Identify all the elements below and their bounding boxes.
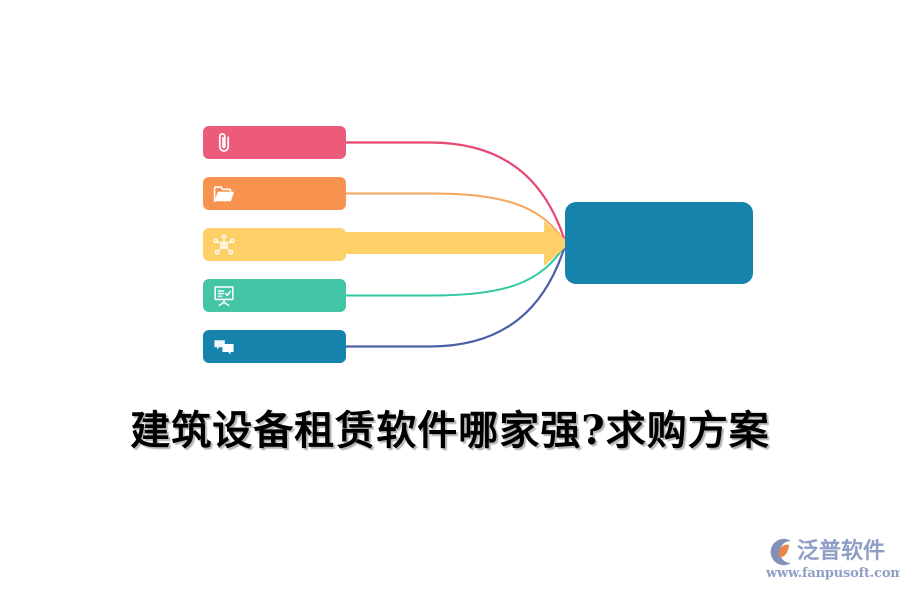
page-title: 建筑设备租赁软件哪家强?求购方案 bbox=[0, 398, 900, 456]
network-hub-icon bbox=[212, 233, 236, 257]
chat-bubbles-icon bbox=[212, 335, 236, 359]
fanpu-logo-icon bbox=[766, 537, 796, 567]
converging-diagram bbox=[0, 0, 900, 390]
open-folder-icon bbox=[212, 182, 236, 206]
page-root: 建筑设备租赁软件哪家强?求购方案 泛普软件 www.fanpusoft.com bbox=[0, 0, 900, 600]
node-bar-2[interactable] bbox=[203, 177, 346, 210]
watermark-url-text: www.fanpusoft.com bbox=[766, 566, 892, 581]
connector-arrow-3 bbox=[346, 221, 570, 266]
connector-lines bbox=[0, 0, 900, 390]
target-box[interactable] bbox=[565, 202, 753, 284]
node-bar-3[interactable] bbox=[203, 228, 346, 261]
node-bar-4[interactable] bbox=[203, 279, 346, 312]
node-bar-1[interactable] bbox=[203, 126, 346, 159]
watermark-brand-text: 泛普软件 bbox=[797, 537, 885, 567]
watermark-brand-row: 泛普软件 bbox=[766, 536, 892, 568]
presentation-board-icon bbox=[212, 284, 236, 308]
watermark-logo: 泛普软件 www.fanpusoft.com bbox=[766, 536, 892, 586]
paperclip-icon bbox=[212, 131, 236, 155]
node-bar-5[interactable] bbox=[203, 330, 346, 363]
